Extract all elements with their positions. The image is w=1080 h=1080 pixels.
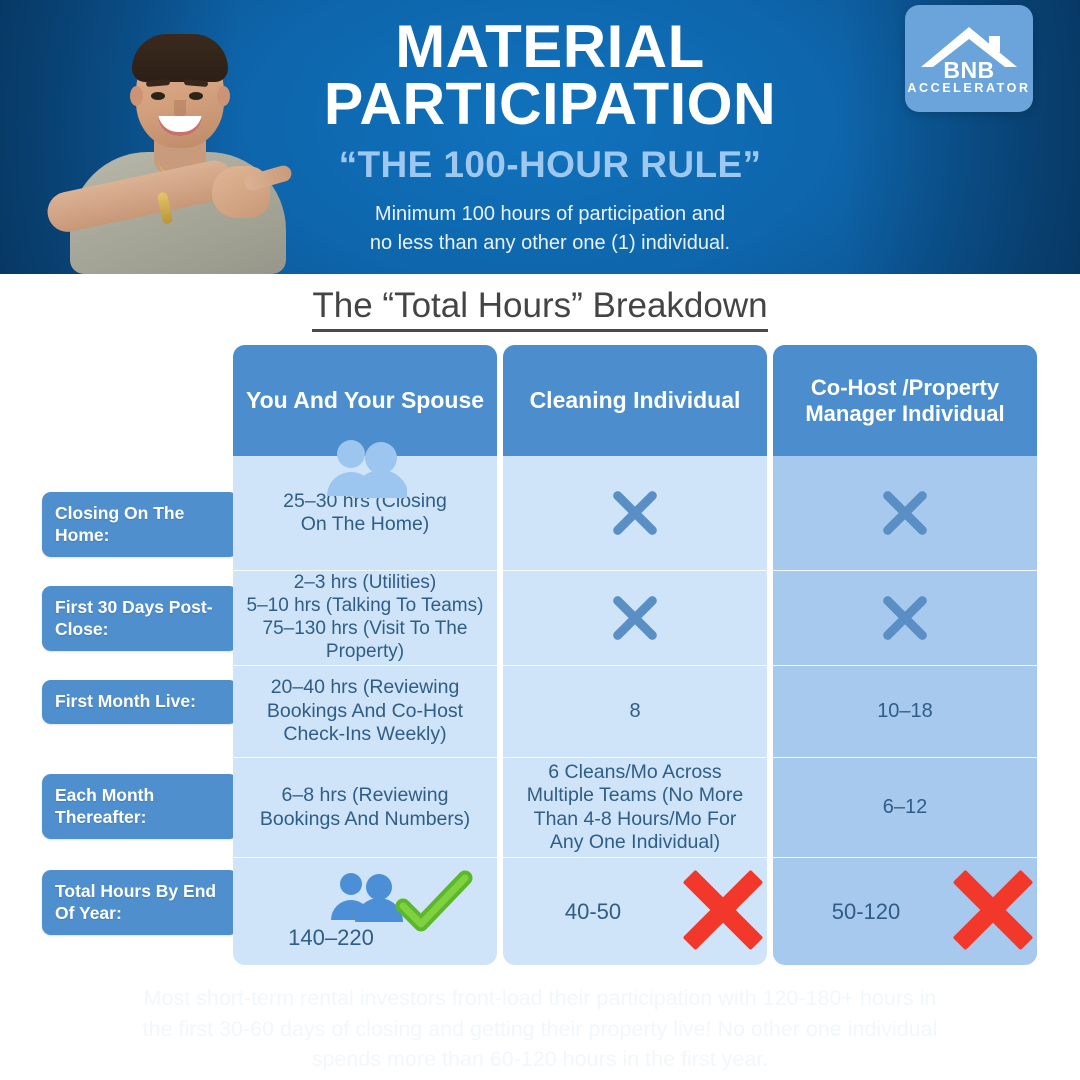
row-label-closing-on-home: Closing On The Home:	[42, 492, 238, 557]
footer-line-2: the first 30-60 days of closing and gett…	[60, 1014, 1020, 1045]
cell-line: 2–3 hrs (Utilities)	[247, 572, 484, 595]
cell-total-cleaning: 40-50	[503, 899, 683, 925]
cell-spouse-total: 140–220	[233, 857, 497, 965]
column-cells: 25–30 hrs (Closing On The Home) 2–3 hrs …	[233, 456, 497, 965]
cell-cleaning-each-month: 6 Cleans/Mo Across Multiple Teams (No Mo…	[503, 757, 767, 857]
row-label-each-month-thereafter: Each Month Thereafter:	[42, 774, 238, 839]
cell-cleaning-first-month-live: 8	[503, 665, 767, 757]
column-you-and-spouse: You And Your Spouse 25–30 hrs (Closing O…	[233, 345, 497, 965]
cell-spouse-closing: 25–30 hrs (Closing On The Home)	[233, 456, 497, 570]
x-mark-blue-icon	[609, 487, 661, 539]
cell-cleaning-closing	[503, 456, 767, 570]
x-mark-red-icon	[687, 874, 759, 946]
cell-line: Property)	[247, 641, 484, 664]
cell-line: 20–40 hrs (Reviewing	[267, 676, 463, 699]
column-header-cleaning-individual: Cleaning Individual	[503, 345, 767, 456]
cell-line: Bookings And Numbers)	[260, 808, 470, 831]
x-mark-red-icon	[957, 874, 1029, 946]
footer-banner: Most short-term rental investors front-l…	[0, 978, 1080, 1080]
cell-text: 6–8 hrs (Reviewing Bookings And Numbers)	[260, 784, 470, 831]
cell-line: Check-Ins Weekly)	[267, 723, 463, 746]
cell-line: Any One Individual)	[527, 831, 743, 854]
column-cells: 8 6 Cleans/Mo Across Multiple Teams (No …	[503, 456, 767, 965]
cell-text: 6–12	[883, 796, 928, 819]
cell-line: On The Home)	[283, 513, 447, 536]
cell-cleaning-first-30-days	[503, 570, 767, 665]
cell-text: 20–40 hrs (Reviewing Bookings And Co-Hos…	[267, 676, 463, 746]
row-label-first-month-live: First Month Live:	[42, 680, 238, 724]
x-mark-blue-icon	[879, 487, 931, 539]
cell-total-spouse: 140–220	[233, 925, 429, 951]
row-label-total-hours: Total Hours By End Of Year:	[42, 870, 238, 935]
column-cohost-property-manager: Co-Host /Property Manager Individual 10–…	[773, 345, 1037, 965]
footer-text: Most short-term rental investors front-l…	[60, 983, 1020, 1075]
footer-line-1: Most short-term rental investors front-l…	[60, 983, 1020, 1014]
people-icon	[323, 440, 407, 498]
cell-line: Than 4-8 Hours/Mo For	[527, 808, 743, 831]
cell-text: 10–18	[877, 700, 933, 723]
cell-cohost-total: 50-120	[773, 857, 1037, 965]
people-icon	[329, 872, 403, 922]
cell-line: 5–10 hrs (Talking To Teams)	[247, 595, 484, 618]
cell-spouse-first-30-days: 2–3 hrs (Utilities) 5–10 hrs (Talking To…	[233, 570, 497, 665]
cell-spouse-each-month: 6–8 hrs (Reviewing Bookings And Numbers)	[233, 757, 497, 857]
footer-line-3: spends more than 60-120 hours in the fir…	[60, 1044, 1020, 1075]
cell-line: 6 Cleans/Mo Across	[527, 761, 743, 784]
cell-text: 8	[629, 700, 640, 723]
row-label-first-30-days: First 30 Days Post-Close:	[42, 586, 238, 651]
cell-spouse-first-month-live: 20–40 hrs (Reviewing Bookings And Co-Hos…	[233, 665, 497, 757]
cell-total-cohost: 50-120	[773, 899, 959, 925]
cell-cohost-closing	[773, 456, 1037, 570]
cell-line: Multiple Teams (No More	[527, 784, 743, 807]
infographic-page: MATERIAL PARTICIPATION “THE 100-HOUR RUL…	[0, 0, 1080, 1080]
column-cleaning-individual: Cleaning Individual 8 6 Cleans/Mo Across…	[503, 345, 767, 965]
column-header-cohost-property-manager: Co-Host /Property Manager Individual	[773, 345, 1037, 456]
x-mark-blue-icon	[609, 592, 661, 644]
cell-text: 2–3 hrs (Utilities) 5–10 hrs (Talking To…	[247, 572, 484, 663]
column-cells: 10–18 6–12 50-120	[773, 456, 1037, 965]
cell-cohost-first-30-days	[773, 570, 1037, 665]
cell-line: 75–130 hrs (Visit To The	[247, 618, 484, 641]
cell-line: Bookings And Co-Host	[267, 700, 463, 723]
cell-cohost-first-month-live: 10–18	[773, 665, 1037, 757]
hours-breakdown-table: Closing On The Home: First 30 Days Post-…	[0, 0, 1080, 1080]
cell-text: 6 Cleans/Mo Across Multiple Teams (No Mo…	[527, 761, 743, 855]
cell-cleaning-total: 40-50	[503, 857, 767, 965]
cell-cohost-each-month: 6–12	[773, 757, 1037, 857]
cell-line: 6–8 hrs (Reviewing	[260, 784, 470, 807]
x-mark-blue-icon	[879, 592, 931, 644]
